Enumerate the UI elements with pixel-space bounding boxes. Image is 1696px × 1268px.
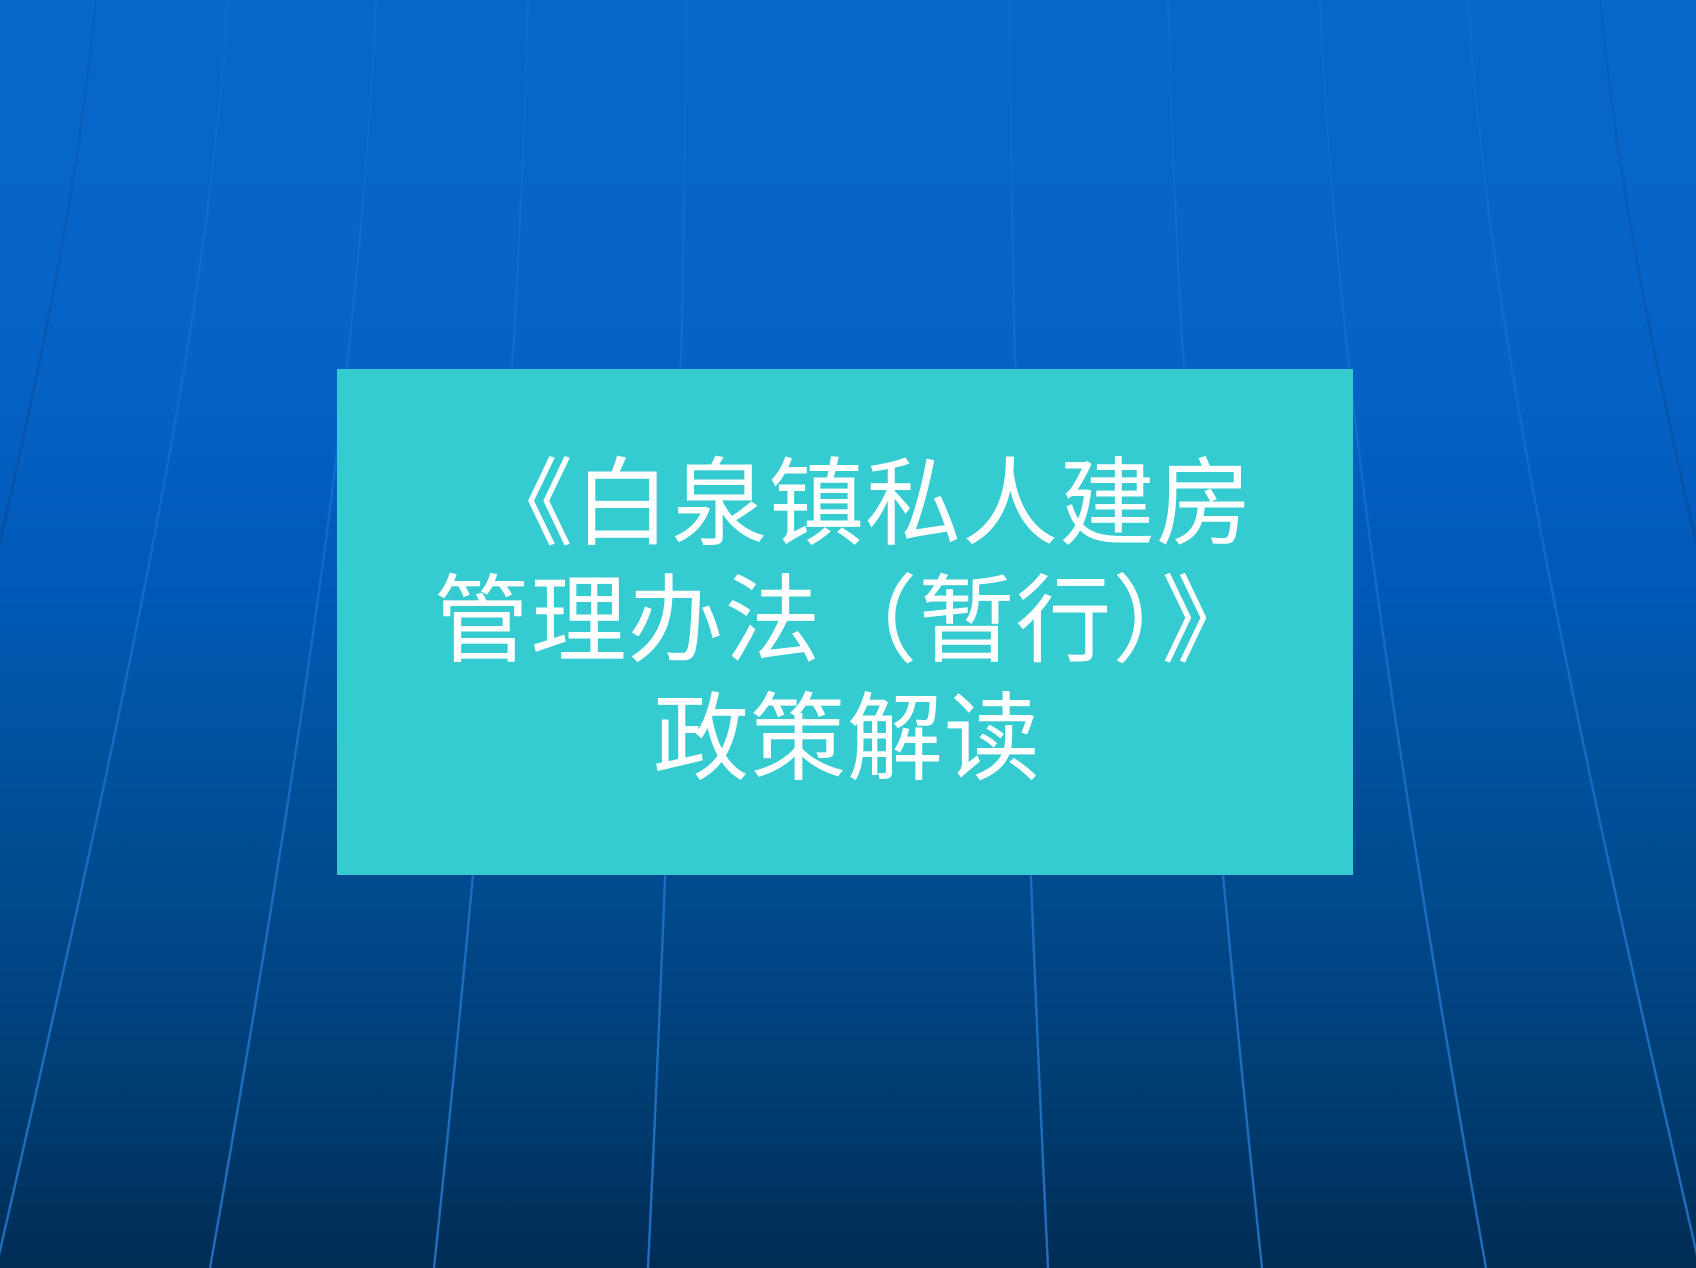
title-card: 《白泉镇私人建房 管理办法（暂行）》 政策解读 — [337, 369, 1353, 875]
title-line-3: 政策解读 — [649, 681, 1041, 798]
slide-canvas: 《白泉镇私人建房 管理办法（暂行）》 政策解读 — [0, 0, 1696, 1268]
title-line-1: 《白泉镇私人建房 — [437, 446, 1253, 563]
title-line-2: 管理办法（暂行）》 — [432, 563, 1259, 680]
